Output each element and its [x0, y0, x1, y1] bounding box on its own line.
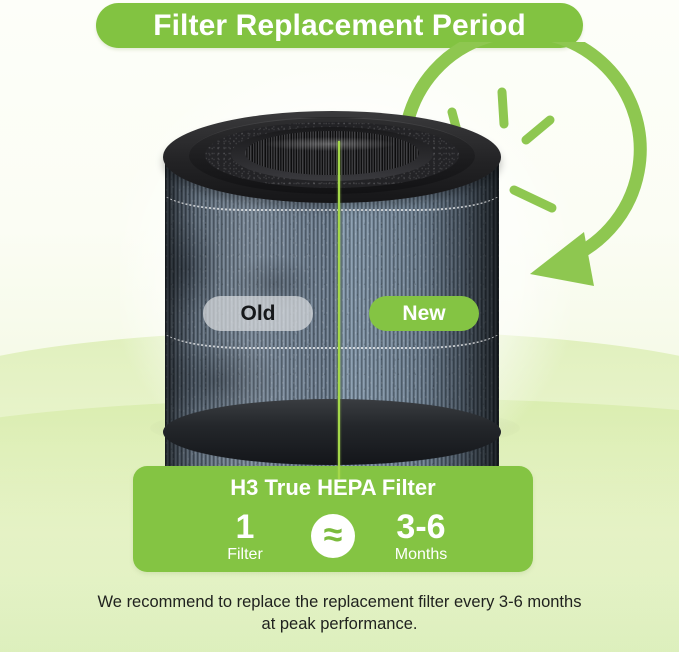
spec-filter-count-unit: Filter: [227, 547, 263, 563]
spec-filter-count-value: 1: [236, 510, 255, 544]
page-title: Filter Replacement Period: [153, 9, 526, 43]
spec-lifespan-value: 3-6: [396, 510, 445, 544]
footer-caption-line-2: at peak performance.: [0, 614, 679, 636]
spec-banner-title: H3 True HEPA Filter: [133, 475, 533, 501]
label-old-text: Old: [241, 302, 276, 326]
spec-banner-row: 1 Filter ≈ 3-6 Months: [133, 506, 533, 566]
filter-base-ring: [163, 399, 501, 465]
footer-caption-line-1: We recommend to replace the replacement …: [0, 592, 679, 614]
promo-image-root: Filter Replacement Period: [0, 0, 679, 652]
spec-lifespan-unit: Months: [395, 547, 447, 563]
old-new-split-line: [338, 141, 340, 479]
label-new-badge: New: [369, 296, 479, 331]
spec-banner: H3 True HEPA Filter 1 Filter ≈ 3-6 Month…: [133, 466, 533, 572]
spec-lifespan: 3-6 Months: [381, 510, 461, 563]
spec-filter-count: 1 Filter: [205, 510, 285, 563]
filter-core-highlight: [265, 137, 395, 151]
label-old-badge: Old: [203, 296, 313, 331]
filter-cap-core-pleats: [245, 131, 419, 175]
label-new-text: New: [402, 302, 445, 326]
footer-caption: We recommend to replace the replacement …: [0, 592, 679, 636]
filter-cartridge-image: [163, 103, 501, 441]
approximately-equal-icon: ≈: [311, 514, 355, 558]
approximately-equal-symbol: ≈: [324, 518, 343, 552]
